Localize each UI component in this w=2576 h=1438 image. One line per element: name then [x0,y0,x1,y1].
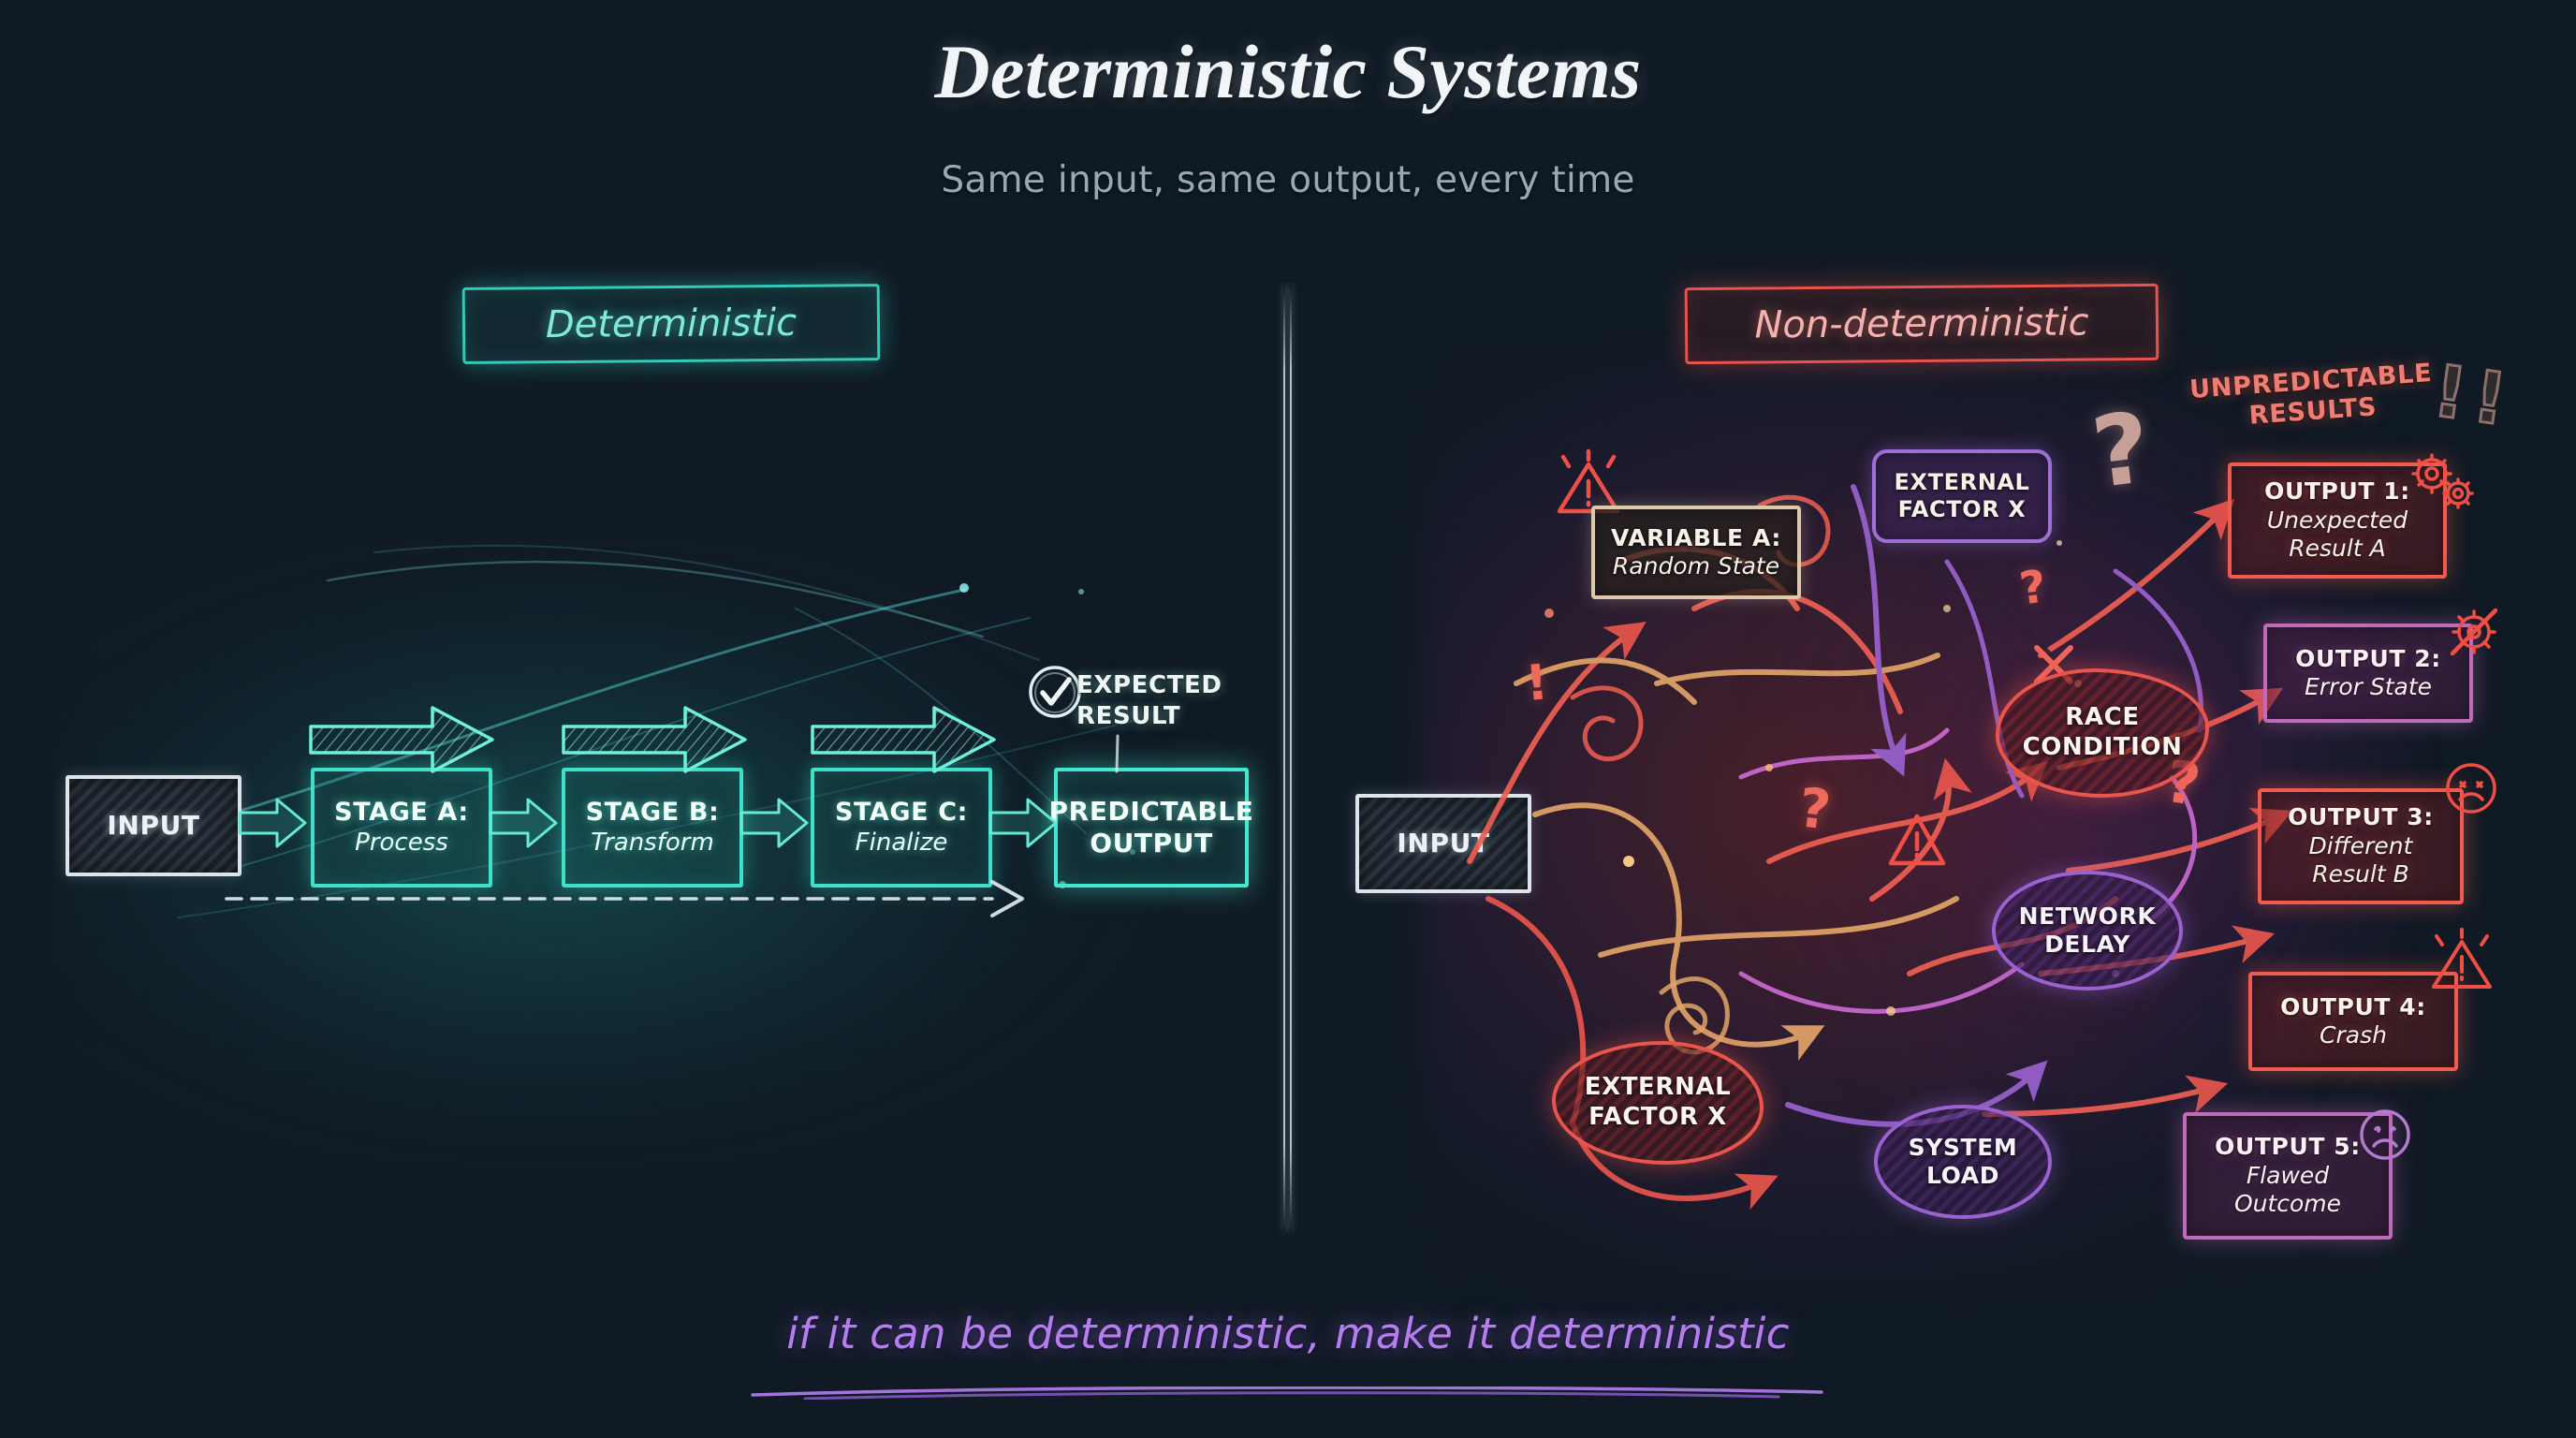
flow-arrow-3 [811,704,998,779]
expected-result-annotation: EXPECTED RESULT [1076,670,1282,731]
output-4-line1: OUTPUT 4: [2280,993,2426,1022]
page-subtitle: Same input, same output, every time [0,159,2576,201]
output-3-line2: Different [2309,832,2413,861]
output-1-line2: Unexpected [2267,506,2408,536]
expected-result-tick-connector [1110,734,1125,775]
stage-b-subtitle: Transform [591,829,714,858]
arrow-stage-b-to-c [739,794,811,852]
factor-external-factor-x-top: EXTERNAL FACTOR X [1872,449,2052,543]
race-condition-line1: RACE [2065,703,2139,733]
variable-a-line1: VARIABLE A: [1611,524,1781,553]
panel-badge-deterministic: Deterministic [462,284,881,364]
footer-tagline: if it can be deterministic, make it dete… [0,1309,2576,1358]
stage-a-subtitle: Process [355,829,448,858]
stage-b-box: STAGE B: Transform [562,768,743,888]
race-condition-line2: CONDITION [2023,733,2183,763]
output-4-line2: Crash [2320,1021,2387,1050]
exclamation-mark-icon-1: ! [1523,654,1550,712]
external-x-bottom-line1: EXTERNAL [1585,1073,1732,1103]
infographic-canvas: Deterministic Systems Same input, same o… [0,0,2576,1438]
broken-gear-icon [2443,601,2505,663]
output-2-box: OUTPUT 2: Error State [2263,624,2473,723]
flow-arrow-2 [562,704,749,779]
double-exclamation-icon: !! [2428,348,2519,442]
output-5-line2: Flawed [2247,1162,2329,1191]
output-2-line1: OUTPUT 2: [2295,645,2441,674]
output-3-line1: OUTPUT 3: [2288,803,2434,832]
output-5-line3: Outcome [2234,1190,2341,1219]
external-x-top-line2: FACTOR X [1898,496,2027,523]
external-x-top-line1: EXTERNAL [1895,469,2030,496]
predictable-output-line1: PREDICTABLE [1049,796,1254,828]
variable-a-line2: Random State [1613,552,1779,581]
stage-c-title: STAGE C: [835,798,968,829]
deterministic-input-box: INPUT [66,775,241,876]
network-delay-line1: NETWORK [2019,902,2157,932]
predictable-output-box: PREDICTABLE OUTPUT [1054,768,1249,888]
network-delay-line2: DELAY [2044,931,2130,960]
check-circle-icon [1026,663,1084,721]
system-load-line2: LOAD [1926,1162,1999,1191]
output-3-box: OUTPUT 3: Different Result B [2258,788,2464,904]
warning-triangle-icon-output-4 [2428,929,2495,992]
arrow-input-to-stage-a [238,794,309,852]
stage-a-box: STAGE A: Process [311,768,492,888]
output-1-line1: OUTPUT 1: [2264,477,2410,506]
output-3-line3: Result B [2312,860,2408,889]
stage-a-title: STAGE A: [334,798,469,829]
arrow-stage-c-to-output [988,794,1060,852]
predictable-output-line2: OUTPUT [1090,828,1213,859]
external-x-bottom-line2: FACTOR X [1588,1103,1727,1133]
output-2-line2: Error State [2305,673,2432,702]
question-mark-icon-1: ? [1796,775,1835,842]
flow-arrow-1 [309,704,496,779]
warning-triangle-icon-center [1887,811,1947,867]
sad-face-icon-output-5 [2357,1107,2413,1163]
deterministic-input-label: INPUT [107,810,199,842]
panel-badge-non-deterministic: Non-deterministic [1685,284,2159,364]
stage-c-subtitle: Finalize [856,829,948,858]
stage-b-title: STAGE B: [586,798,720,829]
expected-result-line2: RESULT [1076,701,1282,732]
arrow-stage-a-to-b [489,794,560,852]
factor-variable-a: VARIABLE A: Random State [1591,506,1801,599]
deterministic-baseline-arrow [225,880,1048,917]
sad-face-icon-output-3 [2443,760,2499,816]
tagline-underline [749,1387,1825,1400]
output-1-line3: Result A [2289,535,2385,564]
output-5-line1: OUTPUT 5: [2215,1133,2361,1162]
stage-c-box: STAGE C: Finalize [811,768,992,888]
panel-divider [1281,286,1295,1231]
expected-result-line1: EXPECTED [1076,670,1282,701]
output-4-box: OUTPUT 4: Crash [2248,972,2458,1071]
system-load-line1: SYSTEM [1909,1134,2018,1163]
factor-system-load: SYSTEM LOAD [1874,1105,2052,1219]
factor-network-delay: NETWORK DELAY [1992,871,2183,990]
page-title: Deterministic Systems [0,28,2576,116]
gears-icon [2406,449,2479,517]
